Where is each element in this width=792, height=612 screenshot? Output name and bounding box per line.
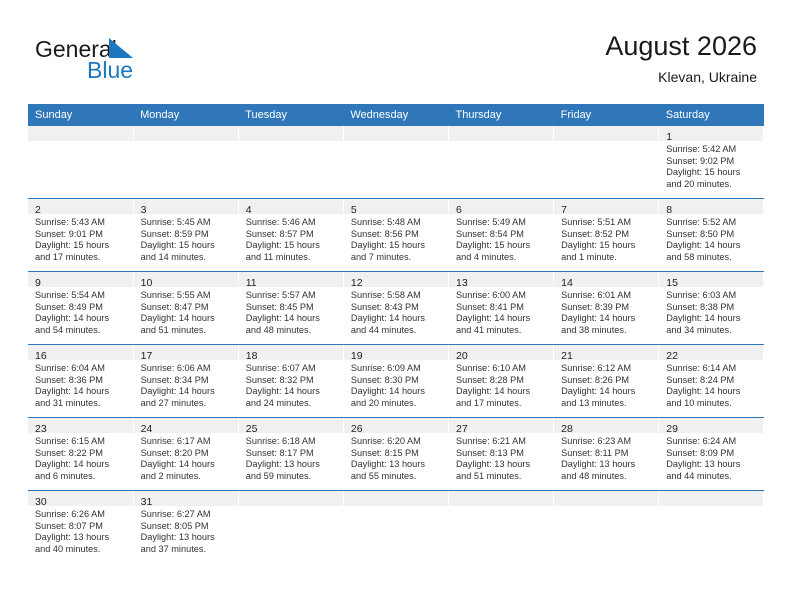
daylight-duration-line2: and 41 minutes. [456,325,549,337]
sunrise-time: Sunrise: 5:54 AM [35,290,129,302]
day-number-band [28,126,133,141]
day-number-band: 10 [134,272,238,287]
calendar-day-cell[interactable]: 7Sunrise: 5:51 AMSunset: 8:52 PMDaylight… [554,199,659,272]
day-number: 23 [35,423,47,435]
day-number: 5 [351,204,357,216]
calendar-header-row: Sunday Monday Tuesday Wednesday Thursday… [28,104,764,126]
calendar-week-row: 16Sunrise: 6:04 AMSunset: 8:36 PMDayligh… [28,345,764,418]
daylight-duration-line1: Daylight: 14 hours [141,313,234,325]
sunset-time: Sunset: 8:50 PM [666,229,759,241]
day-number-band [554,491,658,506]
day-number: 27 [456,423,468,435]
day-number-band: 1 [659,126,763,141]
daylight-duration-line2: and 51 minutes. [456,471,549,483]
daylight-duration-line1: Daylight: 14 hours [561,313,654,325]
daylight-duration-line2: and 13 minutes. [561,398,654,410]
day-number-band: 5 [344,199,448,214]
daylight-duration-line2: and 2 minutes. [141,471,234,483]
daylight-duration-line1: Daylight: 14 hours [666,313,759,325]
sunset-time: Sunset: 8:32 PM [246,375,339,387]
sunset-time: Sunset: 8:15 PM [351,448,444,460]
day-number-band: 9 [28,272,133,287]
day-number: 26 [351,423,363,435]
daylight-duration-line2: and 6 minutes. [35,471,129,483]
daylight-duration-line2: and 20 minutes. [666,179,759,191]
day-number-band [449,491,553,506]
daylight-duration-line2: and 31 minutes. [35,398,129,410]
day-details: Sunrise: 6:21 AMSunset: 8:13 PMDaylight:… [449,433,553,482]
calendar-week-row: 1Sunrise: 5:42 AMSunset: 9:02 PMDaylight… [28,126,764,199]
day-number: 12 [351,277,363,289]
calendar-day-cell[interactable]: 9Sunrise: 5:54 AMSunset: 8:49 PMDaylight… [28,272,133,345]
daylight-duration-line1: Daylight: 14 hours [666,386,759,398]
day-number: 31 [141,496,153,508]
day-details: Sunrise: 5:43 AMSunset: 9:01 PMDaylight:… [28,214,133,263]
calendar-day-cell[interactable]: 5Sunrise: 5:48 AMSunset: 8:56 PMDaylight… [343,199,448,272]
daylight-duration-line1: Daylight: 14 hours [456,386,549,398]
daylight-duration-line2: and 48 minutes. [561,471,654,483]
day-details: Sunrise: 6:10 AMSunset: 8:28 PMDaylight:… [449,360,553,409]
calendar-day-cell[interactable]: 22Sunrise: 6:14 AMSunset: 8:24 PMDayligh… [659,345,764,418]
day-number-band: 4 [239,199,343,214]
day-details: Sunrise: 5:48 AMSunset: 8:56 PMDaylight:… [344,214,448,263]
sunset-time: Sunset: 8:24 PM [666,375,759,387]
sunrise-time: Sunrise: 5:46 AM [246,217,339,229]
sunset-time: Sunset: 8:09 PM [666,448,759,460]
day-details: Sunrise: 6:01 AMSunset: 8:39 PMDaylight:… [554,287,658,336]
day-number-band [239,126,343,141]
daylight-duration-line2: and 17 minutes. [456,398,549,410]
daylight-duration-line1: Daylight: 15 hours [456,240,549,252]
sunset-time: Sunset: 8:45 PM [246,302,339,314]
brand-logo[interactable]: General Blue [35,36,235,92]
sunrise-time: Sunrise: 5:49 AM [456,217,549,229]
day-number: 3 [141,204,147,216]
sunset-time: Sunset: 8:11 PM [561,448,654,460]
sunrise-time: Sunrise: 6:03 AM [666,290,759,302]
day-number: 20 [456,350,468,362]
weekday-header-friday: Friday [554,104,659,126]
day-number-band: 20 [449,345,553,360]
daylight-duration-line1: Daylight: 15 hours [35,240,129,252]
sunset-time: Sunset: 8:20 PM [141,448,234,460]
sunset-time: Sunset: 8:57 PM [246,229,339,241]
day-details: Sunrise: 6:23 AMSunset: 8:11 PMDaylight:… [554,433,658,482]
day-details [134,141,238,144]
calendar-empty-cell [343,491,448,564]
title-block: August 2026 Klevan, Ukraine [605,30,757,86]
daylight-duration-line2: and 1 minute. [561,252,654,264]
calendar-empty-cell [343,126,448,199]
daylight-duration-line1: Daylight: 14 hours [456,313,549,325]
day-number-band: 14 [554,272,658,287]
daylight-duration-line1: Daylight: 13 hours [246,459,339,471]
day-number-band: 23 [28,418,133,433]
sunrise-time: Sunrise: 6:18 AM [246,436,339,448]
calendar-day-cell[interactable]: 17Sunrise: 6:06 AMSunset: 8:34 PMDayligh… [133,345,238,418]
daylight-duration-line2: and 54 minutes. [35,325,129,337]
day-details: Sunrise: 6:20 AMSunset: 8:15 PMDaylight:… [344,433,448,482]
calendar-day-cell[interactable]: 27Sunrise: 6:21 AMSunset: 8:13 PMDayligh… [449,418,554,491]
day-details [554,506,658,509]
sunset-time: Sunset: 8:52 PM [561,229,654,241]
daylight-duration-line1: Daylight: 14 hours [246,386,339,398]
sunrise-time: Sunrise: 5:42 AM [666,144,759,156]
weekday-header-wednesday: Wednesday [343,104,448,126]
day-details: Sunrise: 6:04 AMSunset: 8:36 PMDaylight:… [28,360,133,409]
calendar-day-cell[interactable]: 8Sunrise: 5:52 AMSunset: 8:50 PMDaylight… [659,199,764,272]
daylight-duration-line1: Daylight: 15 hours [351,240,444,252]
sunrise-time: Sunrise: 5:45 AM [141,217,234,229]
daylight-duration-line2: and 59 minutes. [246,471,339,483]
day-number: 9 [35,277,41,289]
day-details [239,141,343,144]
sunset-time: Sunset: 8:54 PM [456,229,549,241]
day-number: 25 [246,423,258,435]
day-number: 2 [35,204,41,216]
calendar-day-cell[interactable]: 15Sunrise: 6:03 AMSunset: 8:38 PMDayligh… [659,272,764,345]
daylight-duration-line2: and 55 minutes. [351,471,444,483]
daylight-duration-line2: and 37 minutes. [141,544,234,556]
sunrise-time: Sunrise: 6:00 AM [456,290,549,302]
sunset-time: Sunset: 9:02 PM [666,156,759,168]
calendar-day-cell[interactable]: 26Sunrise: 6:20 AMSunset: 8:15 PMDayligh… [343,418,448,491]
calendar-day-cell[interactable]: 6Sunrise: 5:49 AMSunset: 8:54 PMDaylight… [449,199,554,272]
calendar-week-row: 2Sunrise: 5:43 AMSunset: 9:01 PMDaylight… [28,199,764,272]
day-number-band: 29 [659,418,763,433]
calendar-empty-cell [449,491,554,564]
sunrise-time: Sunrise: 6:23 AM [561,436,654,448]
page-header: General Blue August 2026 Klevan, Ukraine [0,0,792,103]
day-number-band: 19 [344,345,448,360]
calendar-day-cell[interactable]: 20Sunrise: 6:10 AMSunset: 8:28 PMDayligh… [449,345,554,418]
daylight-duration-line1: Daylight: 14 hours [141,459,234,471]
calendar-day-cell[interactable]: 28Sunrise: 6:23 AMSunset: 8:11 PMDayligh… [554,418,659,491]
sunrise-time: Sunrise: 6:04 AM [35,363,129,375]
calendar-day-cell[interactable]: 3Sunrise: 5:45 AMSunset: 8:59 PMDaylight… [133,199,238,272]
sunset-time: Sunset: 8:43 PM [351,302,444,314]
calendar-day-cell[interactable]: 12Sunrise: 5:58 AMSunset: 8:43 PMDayligh… [343,272,448,345]
calendar-page: General Blue August 2026 Klevan, Ukraine… [0,0,792,612]
day-details: Sunrise: 5:54 AMSunset: 8:49 PMDaylight:… [28,287,133,336]
sunrise-time: Sunrise: 6:01 AM [561,290,654,302]
day-details: Sunrise: 5:51 AMSunset: 8:52 PMDaylight:… [554,214,658,263]
day-details: Sunrise: 6:12 AMSunset: 8:26 PMDaylight:… [554,360,658,409]
day-number-band: 16 [28,345,133,360]
sunrise-time: Sunrise: 5:43 AM [35,217,129,229]
daylight-duration-line1: Daylight: 13 hours [141,532,234,544]
weekday-header-saturday: Saturday [659,104,764,126]
daylight-duration-line1: Daylight: 14 hours [666,240,759,252]
calendar-day-cell[interactable]: 1Sunrise: 5:42 AMSunset: 9:02 PMDaylight… [659,126,764,199]
calendar-empty-cell [449,126,554,199]
weekday-header-sunday: Sunday [28,104,133,126]
daylight-duration-line2: and 11 minutes. [246,252,339,264]
daylight-duration-line2: and 44 minutes. [666,471,759,483]
page-subtitle: Klevan, Ukraine [605,68,757,86]
day-number: 13 [456,277,468,289]
calendar-day-cell[interactable]: 10Sunrise: 5:55 AMSunset: 8:47 PMDayligh… [133,272,238,345]
day-number: 1 [666,131,672,143]
daylight-duration-line1: Daylight: 15 hours [246,240,339,252]
sunset-time: Sunset: 8:56 PM [351,229,444,241]
day-number-band: 28 [554,418,658,433]
day-number-band: 22 [659,345,763,360]
daylight-duration-line2: and 34 minutes. [666,325,759,337]
day-number: 16 [35,350,47,362]
daylight-duration-line1: Daylight: 13 hours [456,459,549,471]
day-number-band: 3 [134,199,238,214]
day-details [28,141,133,144]
sunset-time: Sunset: 8:47 PM [141,302,234,314]
weekday-header-monday: Monday [133,104,238,126]
sunrise-time: Sunrise: 6:07 AM [246,363,339,375]
sunrise-time: Sunrise: 5:52 AM [666,217,759,229]
daylight-duration-line2: and 24 minutes. [246,398,339,410]
calendar-week-row: 30Sunrise: 6:26 AMSunset: 8:07 PMDayligh… [28,491,764,564]
day-details: Sunrise: 6:27 AMSunset: 8:05 PMDaylight:… [134,506,238,555]
day-number-band: 2 [28,199,133,214]
calendar-empty-cell [133,126,238,199]
day-number: 10 [141,277,153,289]
page-title: August 2026 [605,30,757,62]
day-number: 7 [561,204,567,216]
day-number: 11 [246,277,257,289]
sunrise-time: Sunrise: 5:51 AM [561,217,654,229]
day-number-band: 27 [449,418,553,433]
daylight-duration-line2: and 4 minutes. [456,252,549,264]
day-number-band: 30 [28,491,133,506]
daylight-duration-line1: Daylight: 15 hours [666,167,759,179]
day-number-band [344,126,448,141]
day-number-band: 31 [134,491,238,506]
day-details: Sunrise: 5:42 AMSunset: 9:02 PMDaylight:… [659,141,763,190]
calendar-empty-cell [28,126,133,199]
calendar-day-cell[interactable]: 14Sunrise: 6:01 AMSunset: 8:39 PMDayligh… [554,272,659,345]
daylight-duration-line1: Daylight: 14 hours [351,386,444,398]
sunrise-time: Sunrise: 6:14 AM [666,363,759,375]
day-number: 28 [561,423,573,435]
day-details [449,141,553,144]
day-number-band: 21 [554,345,658,360]
calendar-empty-cell [659,491,764,564]
day-details: Sunrise: 6:07 AMSunset: 8:32 PMDaylight:… [239,360,343,409]
day-details: Sunrise: 5:49 AMSunset: 8:54 PMDaylight:… [449,214,553,263]
sunrise-time: Sunrise: 6:15 AM [35,436,129,448]
day-number: 19 [351,350,363,362]
day-details: Sunrise: 6:06 AMSunset: 8:34 PMDaylight:… [134,360,238,409]
sunset-time: Sunset: 8:05 PM [141,521,234,533]
calendar-day-cell[interactable]: 19Sunrise: 6:09 AMSunset: 8:30 PMDayligh… [343,345,448,418]
daylight-duration-line1: Daylight: 15 hours [561,240,654,252]
day-details: Sunrise: 6:14 AMSunset: 8:24 PMDaylight:… [659,360,763,409]
sunset-time: Sunset: 8:36 PM [35,375,129,387]
weekday-header-thursday: Thursday [449,104,554,126]
daylight-duration-line1: Daylight: 14 hours [35,459,129,471]
daylight-duration-line1: Daylight: 13 hours [666,459,759,471]
calendar-day-cell[interactable]: 11Sunrise: 5:57 AMSunset: 8:45 PMDayligh… [238,272,343,345]
sunrise-time: Sunrise: 6:17 AM [141,436,234,448]
day-details: Sunrise: 6:18 AMSunset: 8:17 PMDaylight:… [239,433,343,482]
day-number-band: 17 [134,345,238,360]
day-number: 4 [246,204,252,216]
sunset-time: Sunset: 9:01 PM [35,229,129,241]
day-number-band: 26 [344,418,448,433]
day-number-band: 18 [239,345,343,360]
day-number-band [344,491,448,506]
sunset-time: Sunset: 8:28 PM [456,375,549,387]
day-number-band [134,126,238,141]
sunrise-time: Sunrise: 6:12 AM [561,363,654,375]
daylight-duration-line1: Daylight: 14 hours [35,386,129,398]
sunrise-time: Sunrise: 6:06 AM [141,363,234,375]
day-details [449,506,553,509]
brand-name-bottom: Blue [87,57,133,83]
sunset-time: Sunset: 8:17 PM [246,448,339,460]
daylight-duration-line2: and 58 minutes. [666,252,759,264]
sunrise-time: Sunrise: 5:57 AM [246,290,339,302]
daylight-duration-line1: Daylight: 13 hours [351,459,444,471]
day-details [239,506,343,509]
sunset-time: Sunset: 8:30 PM [351,375,444,387]
day-details: Sunrise: 5:57 AMSunset: 8:45 PMDaylight:… [239,287,343,336]
day-details: Sunrise: 6:26 AMSunset: 8:07 PMDaylight:… [28,506,133,555]
day-details: Sunrise: 5:58 AMSunset: 8:43 PMDaylight:… [344,287,448,336]
daylight-duration-line1: Daylight: 15 hours [141,240,234,252]
daylight-duration-line2: and 14 minutes. [141,252,234,264]
sunset-time: Sunset: 8:38 PM [666,302,759,314]
sunset-time: Sunset: 8:07 PM [35,521,129,533]
sunset-time: Sunset: 8:41 PM [456,302,549,314]
daylight-duration-line1: Daylight: 14 hours [35,313,129,325]
calendar-day-cell[interactable]: 2Sunrise: 5:43 AMSunset: 9:01 PMDaylight… [28,199,133,272]
sunset-time: Sunset: 8:13 PM [456,448,549,460]
day-number-band [659,491,763,506]
calendar-day-cell[interactable]: 30Sunrise: 6:26 AMSunset: 8:07 PMDayligh… [28,491,133,564]
day-details: Sunrise: 5:52 AMSunset: 8:50 PMDaylight:… [659,214,763,263]
day-details: Sunrise: 6:24 AMSunset: 8:09 PMDaylight:… [659,433,763,482]
sunset-time: Sunset: 8:39 PM [561,302,654,314]
sunset-time: Sunset: 8:22 PM [35,448,129,460]
day-number-band: 15 [659,272,763,287]
day-number: 30 [35,496,47,508]
calendar-day-cell[interactable]: 18Sunrise: 6:07 AMSunset: 8:32 PMDayligh… [238,345,343,418]
calendar-day-cell[interactable]: 16Sunrise: 6:04 AMSunset: 8:36 PMDayligh… [28,345,133,418]
calendar-day-cell[interactable]: 21Sunrise: 6:12 AMSunset: 8:26 PMDayligh… [554,345,659,418]
day-number-band [449,126,553,141]
daylight-duration-line1: Daylight: 13 hours [35,532,129,544]
daylight-duration-line1: Daylight: 13 hours [561,459,654,471]
day-number: 14 [561,277,573,289]
day-number-band [239,491,343,506]
sunrise-time: Sunrise: 6:20 AM [351,436,444,448]
day-number-band: 24 [134,418,238,433]
sunrise-time: Sunrise: 6:26 AM [35,509,129,521]
sunrise-time: Sunrise: 5:48 AM [351,217,444,229]
day-details: Sunrise: 5:55 AMSunset: 8:47 PMDaylight:… [134,287,238,336]
calendar-body: 1Sunrise: 5:42 AMSunset: 9:02 PMDaylight… [28,126,764,563]
daylight-duration-line1: Daylight: 14 hours [246,313,339,325]
sunrise-time: Sunrise: 6:09 AM [351,363,444,375]
daylight-duration-line2: and 40 minutes. [35,544,129,556]
daylight-duration-line2: and 20 minutes. [351,398,444,410]
sunset-time: Sunset: 8:34 PM [141,375,234,387]
day-number-band: 11 [239,272,343,287]
day-number-band: 13 [449,272,553,287]
sunrise-time: Sunrise: 6:21 AM [456,436,549,448]
daylight-duration-line2: and 7 minutes. [351,252,444,264]
day-number: 22 [666,350,678,362]
day-number-band: 7 [554,199,658,214]
day-details: Sunrise: 5:46 AMSunset: 8:57 PMDaylight:… [239,214,343,263]
day-number-band: 8 [659,199,763,214]
daylight-duration-line2: and 48 minutes. [246,325,339,337]
day-details [344,141,448,144]
calendar-day-cell[interactable]: 31Sunrise: 6:27 AMSunset: 8:05 PMDayligh… [133,491,238,564]
calendar-empty-cell [554,126,659,199]
calendar-day-cell[interactable]: 4Sunrise: 5:46 AMSunset: 8:57 PMDaylight… [238,199,343,272]
daylight-duration-line2: and 27 minutes. [141,398,234,410]
day-details: Sunrise: 6:03 AMSunset: 8:38 PMDaylight:… [659,287,763,336]
day-details: Sunrise: 6:00 AMSunset: 8:41 PMDaylight:… [449,287,553,336]
sunset-time: Sunset: 8:59 PM [141,229,234,241]
calendar-day-cell[interactable]: 29Sunrise: 6:24 AMSunset: 8:09 PMDayligh… [659,418,764,491]
daylight-duration-line2: and 51 minutes. [141,325,234,337]
day-number: 24 [141,423,153,435]
day-details [554,141,658,144]
day-details [344,506,448,509]
calendar-empty-cell [238,126,343,199]
daylight-duration-line2: and 17 minutes. [35,252,129,264]
calendar-empty-cell [238,491,343,564]
daylight-duration-line1: Daylight: 14 hours [561,386,654,398]
calendar-day-cell[interactable]: 13Sunrise: 6:00 AMSunset: 8:41 PMDayligh… [449,272,554,345]
day-number: 15 [666,277,678,289]
day-number: 18 [246,350,258,362]
calendar-empty-cell [554,491,659,564]
daylight-duration-line1: Daylight: 14 hours [351,313,444,325]
calendar-day-cell[interactable]: 23Sunrise: 6:15 AMSunset: 8:22 PMDayligh… [28,418,133,491]
daylight-duration-line2: and 44 minutes. [351,325,444,337]
sunset-time: Sunset: 8:49 PM [35,302,129,314]
sunrise-time: Sunrise: 5:55 AM [141,290,234,302]
sunset-time: Sunset: 8:26 PM [561,375,654,387]
calendar-week-row: 9Sunrise: 5:54 AMSunset: 8:49 PMDaylight… [28,272,764,345]
calendar-week-row: 23Sunrise: 6:15 AMSunset: 8:22 PMDayligh… [28,418,764,491]
weekday-header-tuesday: Tuesday [238,104,343,126]
daylight-duration-line1: Daylight: 14 hours [141,386,234,398]
sunrise-time: Sunrise: 6:24 AM [666,436,759,448]
day-number-band [554,126,658,141]
day-number: 17 [141,350,153,362]
calendar-day-cell[interactable]: 24Sunrise: 6:17 AMSunset: 8:20 PMDayligh… [133,418,238,491]
calendar-grid: Sunday Monday Tuesday Wednesday Thursday… [28,104,764,563]
day-number-band: 12 [344,272,448,287]
calendar-day-cell[interactable]: 25Sunrise: 6:18 AMSunset: 8:17 PMDayligh… [238,418,343,491]
day-details: Sunrise: 6:17 AMSunset: 8:20 PMDaylight:… [134,433,238,482]
day-details: Sunrise: 6:09 AMSunset: 8:30 PMDaylight:… [344,360,448,409]
day-number-band: 25 [239,418,343,433]
day-number: 6 [456,204,462,216]
daylight-duration-line2: and 38 minutes. [561,325,654,337]
sunrise-time: Sunrise: 5:58 AM [351,290,444,302]
day-details: Sunrise: 5:45 AMSunset: 8:59 PMDaylight:… [134,214,238,263]
day-details: Sunrise: 6:15 AMSunset: 8:22 PMDaylight:… [28,433,133,482]
day-number-band: 6 [449,199,553,214]
sunrise-time: Sunrise: 6:27 AM [141,509,234,521]
day-details [659,506,763,509]
day-number: 21 [561,350,573,362]
